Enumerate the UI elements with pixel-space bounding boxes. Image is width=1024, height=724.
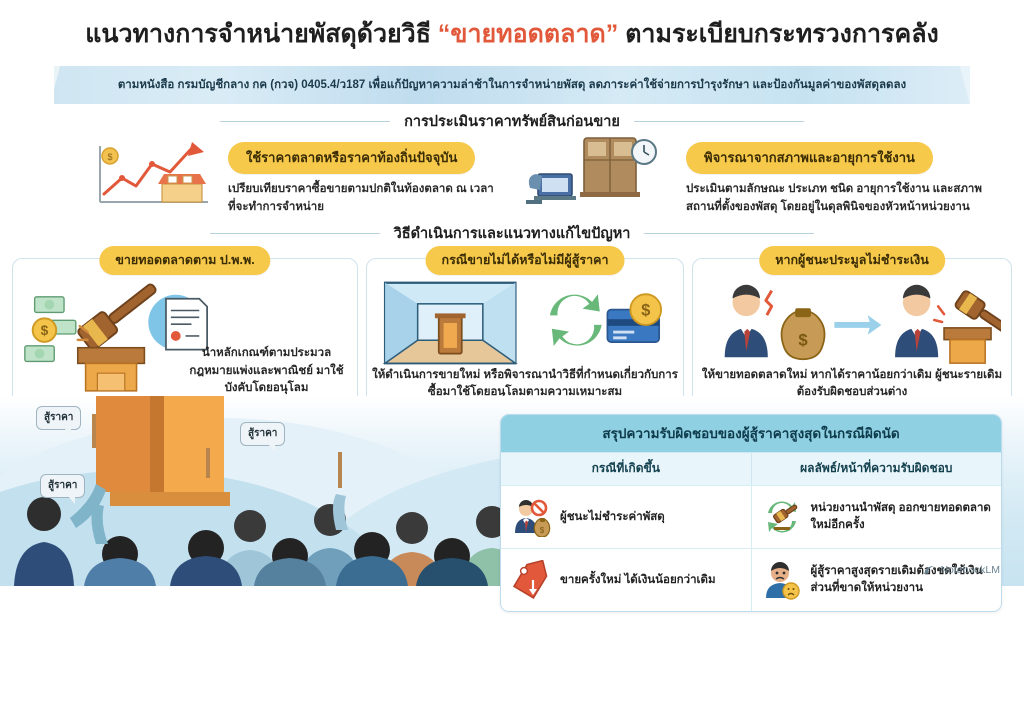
card-2-pill-wrap: กรณีขายไม่ได้หรือไม่มีผู้สู้ราคา bbox=[426, 246, 625, 275]
assessment-body-condition: ประเมินตามลักษณะ ประเภท ชนิด อายุการใช้ง… bbox=[686, 181, 986, 217]
bid-sign-2: สู้ราคา bbox=[40, 474, 85, 498]
table-result-text-1: หน่วยงานนำพัสดุ ออกขายทอดตลาดใหม่อีกครั้… bbox=[811, 500, 992, 533]
table-title: สรุปความรับผิดชอบของผู้สู้ราคาสูงสุดในกร… bbox=[501, 415, 1001, 452]
table-row: ขายครั้งใหม่ ได้เงินน้อยกว่าเดิม ผู้สู้ร… bbox=[501, 548, 1001, 611]
reference-banner-text: ตามหนังสือ กรมบัญชีกลาง กค (กวจ) 0405.4/… bbox=[118, 76, 906, 94]
defaulting-bidder-icon: $ bbox=[703, 275, 1001, 369]
svg-text:$: $ bbox=[41, 323, 49, 338]
assessment-item-condition: พิจารณาจากสภาพและอายุการใช้งาน ประเมินตา… bbox=[686, 142, 986, 217]
svg-text:$: $ bbox=[540, 526, 545, 535]
process-section-title: วิธีดำเนินการและแนวทางแก้ไขปัญหา bbox=[394, 222, 631, 245]
table-case-text-2: ขายครั้งใหม่ ได้เงินน้อยกว่าเดิม bbox=[560, 572, 716, 589]
card-no-bidder[interactable]: กรณีขายไม่ได้หรือไม่มีผู้สู้ราคา $ bbox=[366, 258, 684, 412]
office-furniture-icon bbox=[524, 130, 674, 216]
sad-person-icon bbox=[762, 560, 802, 600]
page-title-after: ตามระเบียบกระทรวงการคลัง bbox=[618, 20, 938, 48]
divider-right-2 bbox=[644, 233, 814, 234]
page-title-before: แนวทางการจำหน่ายพัสดุด้วยวิธี bbox=[85, 20, 438, 48]
notebooklm-label: NotebookLM bbox=[940, 564, 1000, 576]
divider-right bbox=[634, 121, 804, 122]
table-case-text-1: ผู้ชนะไม่ชำระค่าพัสดุ bbox=[560, 509, 665, 526]
bid-sign-1: สู้ราคา bbox=[36, 406, 81, 430]
infographic-page: แนวทางการจำหน่ายพัสดุด้วยวิธี “ขายทอดตลา… bbox=[0, 0, 1024, 724]
liability-summary-table: สรุปความรับผิดชอบของผู้สู้ราคาสูงสุดในกร… bbox=[500, 414, 1002, 612]
bid-sign-3: สู้ราคา bbox=[240, 422, 285, 446]
table-cell-result-2: ผู้สู้ราคาสูงสุดรายเดิมต้องชดใช้เงินส่วน… bbox=[751, 549, 1002, 611]
card-1-title: ขายทอดตลาดตาม ป.พ.พ. bbox=[99, 246, 270, 275]
divider-left-2 bbox=[210, 233, 380, 234]
svg-text:$: $ bbox=[798, 331, 808, 350]
table-header-row: กรณีที่เกิดขึ้น ผลลัพธ์/หน้าที่ความรับผิ… bbox=[501, 452, 1001, 485]
svg-text:$: $ bbox=[641, 301, 650, 319]
assessment-pill-market-price: ใช้ราคาตลาดหรือราคาท้องถิ่นปัจจุบัน bbox=[228, 142, 475, 174]
table-cell-case-2: ขายครั้งใหม่ ได้เงินน้อยกว่าเดิม bbox=[501, 549, 751, 611]
card-3-pill-wrap: หากผู้ชนะประมูลไม่ชำระเงิน bbox=[759, 246, 945, 275]
page-title-highlight: “ขายทอดตลาด” bbox=[438, 20, 618, 48]
page-title: แนวทางการจำหน่ายพัสดุด้วยวิธี “ขายทอดตลา… bbox=[0, 14, 1024, 54]
table-cell-case-1: $ ผู้ชนะไม่ชำระค่าพัสดุ bbox=[501, 486, 751, 548]
table-header-case: กรณีที่เกิดขึ้น bbox=[501, 453, 751, 485]
price-tag-down-icon bbox=[511, 560, 551, 600]
card-1-caption: นำหลักเกณฑ์ตามประมวลกฎหมายแพ่งและพาณิชย์… bbox=[184, 345, 349, 397]
notebooklm-watermark: NotebookLM bbox=[923, 564, 1000, 576]
table-cell-result-1: หน่วยงานนำพัสดุ ออกขายทอดตลาดใหม่อีกครั้… bbox=[751, 486, 1002, 548]
card-3-title: หากผู้ชนะประมูลไม่ชำระเงิน bbox=[759, 246, 945, 275]
table-header-result: ผลลัพธ์/หน้าที่ความรับผิดชอบ bbox=[751, 453, 1002, 485]
growth-chart-icon: $ bbox=[88, 132, 218, 212]
resell-gavel-icon bbox=[762, 497, 802, 537]
svg-text:$: $ bbox=[107, 152, 112, 162]
divider-left bbox=[220, 121, 390, 122]
bidder-no-pay-icon: $ bbox=[511, 497, 551, 537]
assessment-item-market-price: ใช้ราคาตลาดหรือราคาท้องถิ่นปัจจุบัน เปรี… bbox=[228, 142, 498, 217]
assessment-section-header: การประเมินราคาทรัพย์สินก่อนขาย bbox=[0, 110, 1024, 133]
card-1-pill-wrap: ขายทอดตลาดตาม ป.พ.พ. bbox=[99, 246, 270, 275]
process-section-header: วิธีดำเนินการและแนวทางแก้ไขปัญหา bbox=[0, 222, 1024, 245]
assessment-body-market-price: เปรียบเทียบราคาซื้อขายตามปกติในท้องตลาด … bbox=[228, 181, 498, 217]
card-2-title: กรณีขายไม่ได้หรือไม่มีผู้สู้ราคา bbox=[426, 246, 625, 275]
card-winner-no-payment[interactable]: หากผู้ชนะประมูลไม่ชำระเงิน $ bbox=[692, 258, 1012, 412]
notebooklm-icon bbox=[923, 564, 935, 576]
assessment-pill-condition: พิจารณาจากสภาพและอายุการใช้งาน bbox=[686, 142, 933, 174]
card-auction-by-law[interactable]: ขายทอดตลาดตาม ป.พ.พ. $ bbox=[12, 258, 358, 412]
reference-banner: ตามหนังสือ กรมบัญชีกลาง กค (กวจ) 0405.4/… bbox=[54, 66, 970, 104]
table-row: $ ผู้ชนะไม่ชำระค่าพัสดุ หน่วยงานนำพัสดุ … bbox=[501, 485, 1001, 548]
empty-auction-room-icon: $ bbox=[375, 277, 675, 369]
